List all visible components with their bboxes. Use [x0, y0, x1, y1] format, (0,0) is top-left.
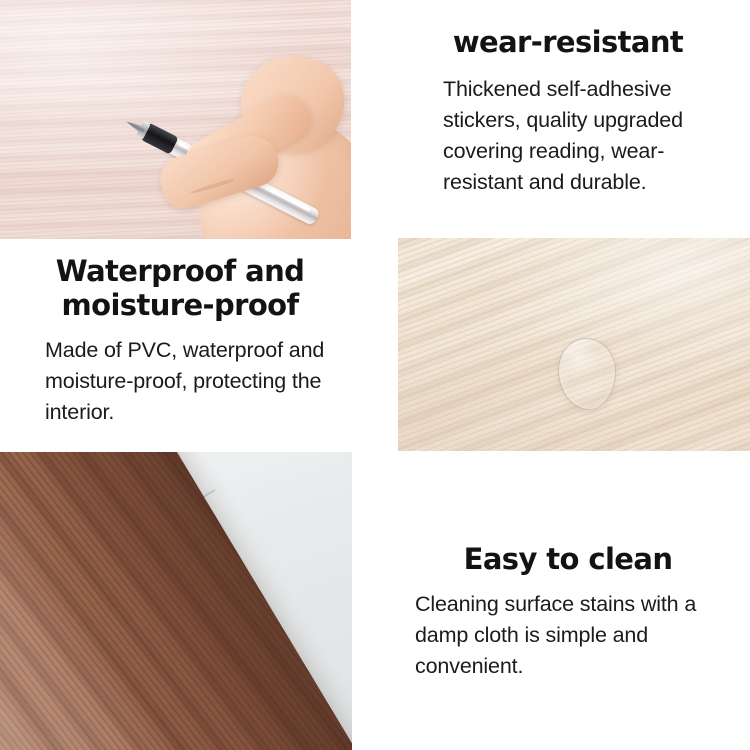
feature-block-waterproof: Waterproof and moisture-proof Made of PV…	[10, 255, 350, 428]
product-feature-infographic: wear-resistant Thickened self-adhesive s…	[0, 0, 750, 750]
pen-tip	[124, 118, 146, 135]
feature-title-wear-resistant: wear-resistant	[398, 26, 738, 60]
feature-block-wear-resistant: wear-resistant Thickened self-adhesive s…	[398, 26, 738, 199]
photo-vinyl-roll	[0, 452, 352, 750]
photo-writing-test	[0, 0, 351, 239]
feature-body-wear-resistant: Thickened self-adhesive stickers, qualit…	[398, 74, 738, 199]
feature-block-easy-to-clean: Easy to clean Cleaning surface stains wi…	[398, 543, 738, 682]
roll-highlight	[0, 452, 178, 750]
feature-title-waterproof: Waterproof and moisture-proof	[10, 255, 350, 323]
feature-title-easy-to-clean: Easy to clean	[398, 543, 738, 577]
photo-water-droplet	[398, 238, 750, 451]
wood-grain-vinyl-roll	[0, 452, 352, 750]
feature-body-waterproof: Made of PVC, waterproof and moisture-pro…	[10, 335, 350, 429]
water-droplet	[558, 338, 616, 410]
feature-body-easy-to-clean: Cleaning surface stains with a damp clot…	[398, 589, 738, 683]
finger-crease	[190, 178, 235, 195]
